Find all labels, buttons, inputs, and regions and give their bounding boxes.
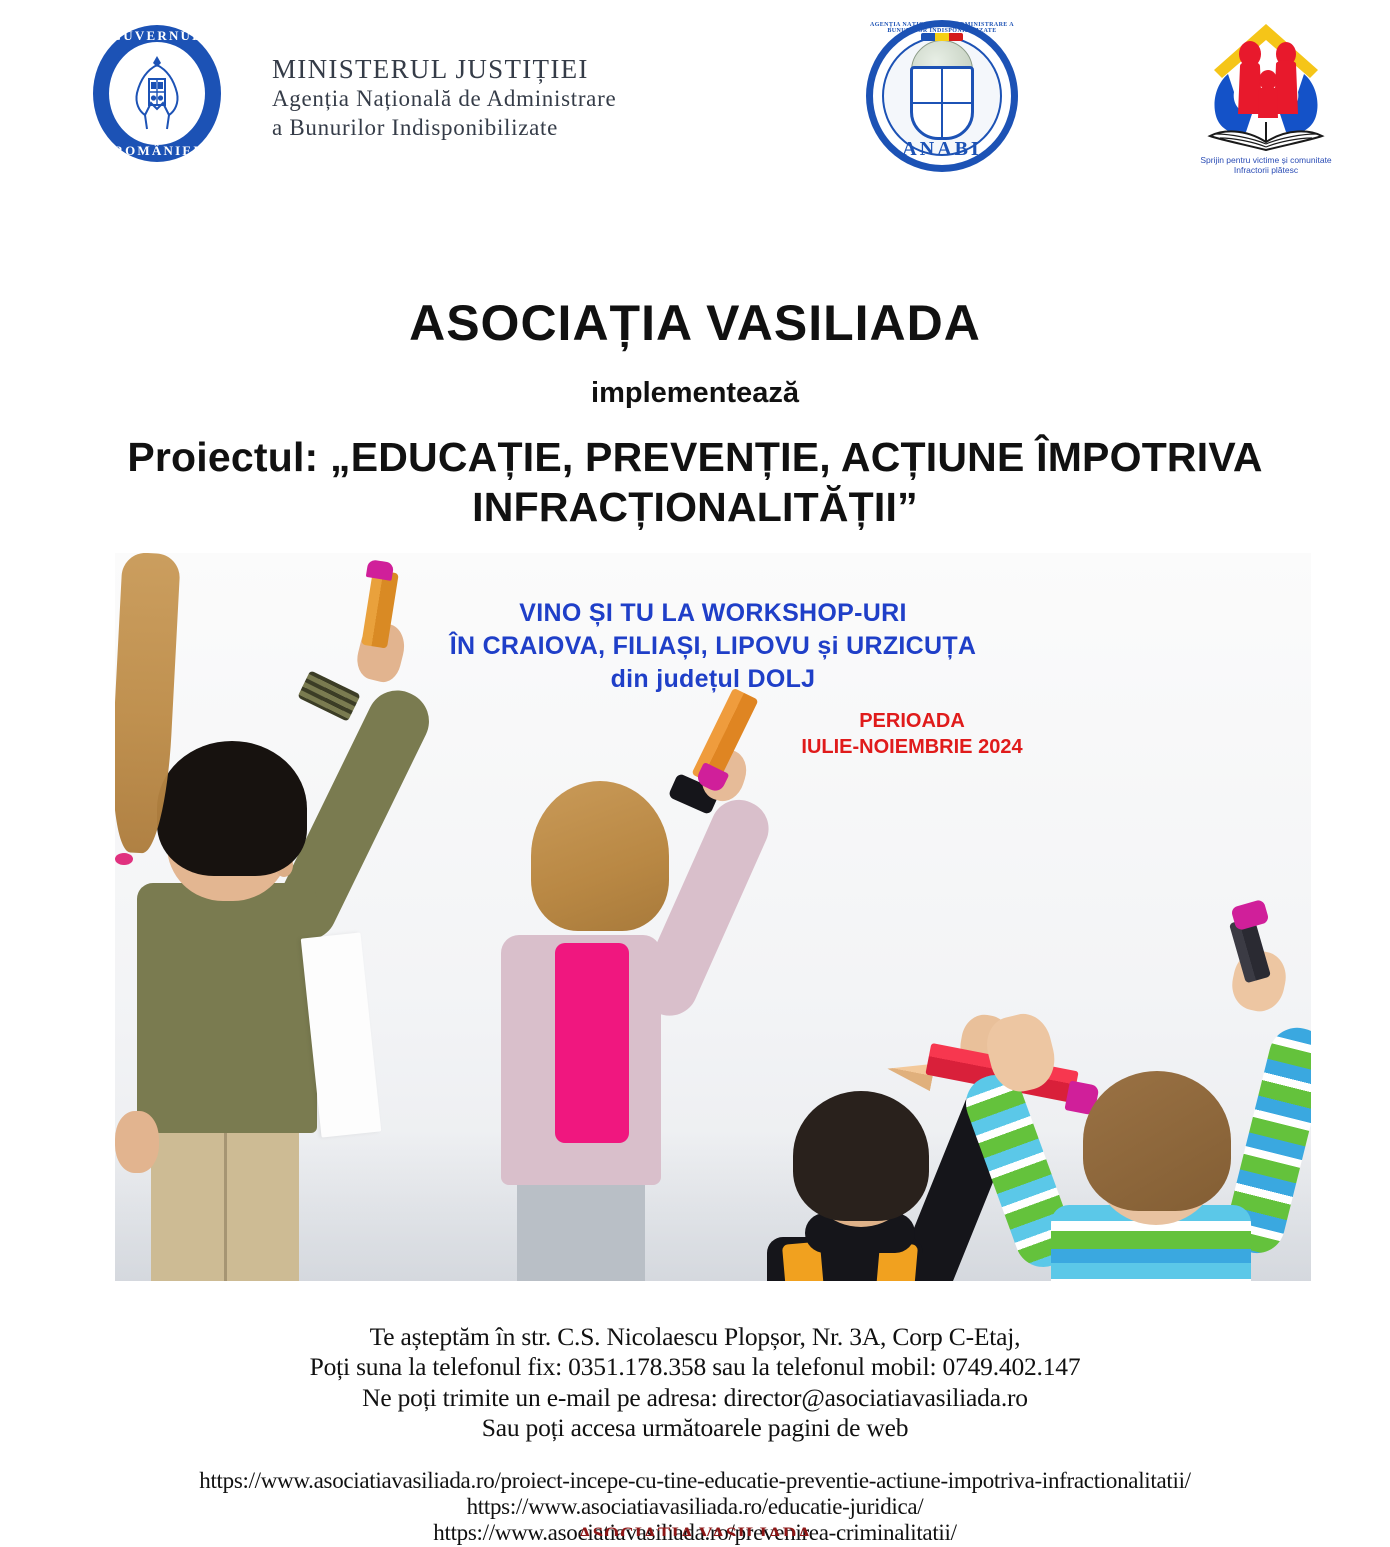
children-photo-scene: Educație Prevenție <box>115 553 1311 1281</box>
child-2-hair <box>531 781 669 931</box>
child-4-hair <box>1083 1071 1231 1211</box>
association-name: ASOCIAȚIA VASILIADA <box>0 296 1390 351</box>
ministry-title-block: MINISTERUL JUSTIȚIEI Agenția Națională d… <box>272 54 616 142</box>
pencil-orange-1-eraser <box>366 559 394 581</box>
family-hands-book-svg <box>1182 18 1350 160</box>
child-1-hair <box>157 741 307 876</box>
child-figure <box>1258 87 1278 118</box>
workshop-invitation-text: VINO ȘI TU LA WORKSHOP-URI ÎN CRAIOVA, F… <box>115 597 1311 696</box>
anabi-acronym: ANABI <box>866 138 1018 161</box>
implements-label: implementează <box>0 377 1390 410</box>
government-of-romania-seal-icon: GUVERNUL ROMÂNIEI <box>93 25 221 162</box>
workshop-line-2: ÎN CRAIOVA, FILIAȘI, LIPOVU și URZICUȚA <box>115 630 1311 663</box>
victims-logo-caption: Sprijin pentru victime și comunitate Inf… <box>1182 155 1350 176</box>
website-link-2[interactable]: https://www.asociatiavasiliada.ro/educat… <box>0 1494 1390 1520</box>
adult-figure-left <box>1238 62 1262 115</box>
workshop-line-3: din județul DOLJ <box>115 663 1311 696</box>
ministry-line-3: a Bunurilor Indisponibilizate <box>272 114 616 143</box>
ministry-line-2: Agenția Națională de Administrare <box>272 85 616 114</box>
period-line-2: IULIE-NOIEMBRIE 2024 <box>762 734 1062 760</box>
romanian-eagle-icon <box>125 53 189 135</box>
ministry-line-1: MINISTERUL JUSTIȚIEI <box>272 54 616 85</box>
workshop-line-1: VINO ȘI TU LA WORKSHOP-URI <box>115 597 1311 630</box>
contact-block: Te așteptăm în str. C.S. Nicolaescu Plop… <box>0 1322 1390 1443</box>
child-1-hand-down <box>115 1111 159 1173</box>
roof-shape <box>1214 24 1318 78</box>
anabi-seal-icon: AGENȚIA NAȚIONALĂ DE ADMINISTRARE A BUNU… <box>866 20 1018 172</box>
contact-email: Ne poți trimite un e-mail pe adresa: dir… <box>0 1383 1390 1413</box>
website-link-1[interactable]: https://www.asociatiavasiliada.ro/proiec… <box>0 1468 1390 1494</box>
poster-title-block: ASOCIAȚIA VASILIADA implementează Proiec… <box>0 296 1390 532</box>
period-line-1: PERIOADA <box>762 708 1062 734</box>
adult-figure-right <box>1274 60 1298 114</box>
victims-logo-caption-line-1: Sprijin pentru victime și comunitate <box>1182 155 1350 166</box>
marker-cap <box>1230 899 1269 931</box>
period-text: PERIOADA IULIE-NOIEMBRIE 2024 <box>762 708 1062 760</box>
header-logos-bar: GUVERNUL ROMÂNIEI MINISTERUL JUSTIȚIEI A… <box>0 0 1390 190</box>
child-2-inner-shirt <box>555 943 629 1143</box>
contact-address: Te așteptăm în str. C.S. Nicolaescu Plop… <box>0 1322 1390 1352</box>
seal-text-bottom: ROMÂNIEI <box>93 143 221 159</box>
child-1-torso <box>137 883 317 1133</box>
anabi-shield-icon <box>910 66 974 140</box>
victims-logo-caption-line-2: Infractorii plătesc <box>1182 165 1350 176</box>
contact-web-intro: Sau poți accesa următoarele pagini de we… <box>0 1413 1390 1443</box>
bottom-association-logo: ASOCIAȚIA VASILIADA <box>0 1524 1390 1536</box>
contact-phones: Poți suna la telefonul fix: 0351.178.358… <box>0 1352 1390 1382</box>
anabi-tricolor-ribbon-icon <box>921 33 963 41</box>
victims-support-logo-icon: Sprijin pentru victime și comunitate Inf… <box>1182 18 1350 178</box>
project-title: Proiectul: „EDUCAȚIE, PREVENȚIE, ACȚIUNE… <box>0 432 1390 532</box>
child-2-hair-tie <box>115 853 133 865</box>
seal-text-top: GUVERNUL <box>93 28 221 44</box>
child-3-hair <box>793 1091 929 1221</box>
